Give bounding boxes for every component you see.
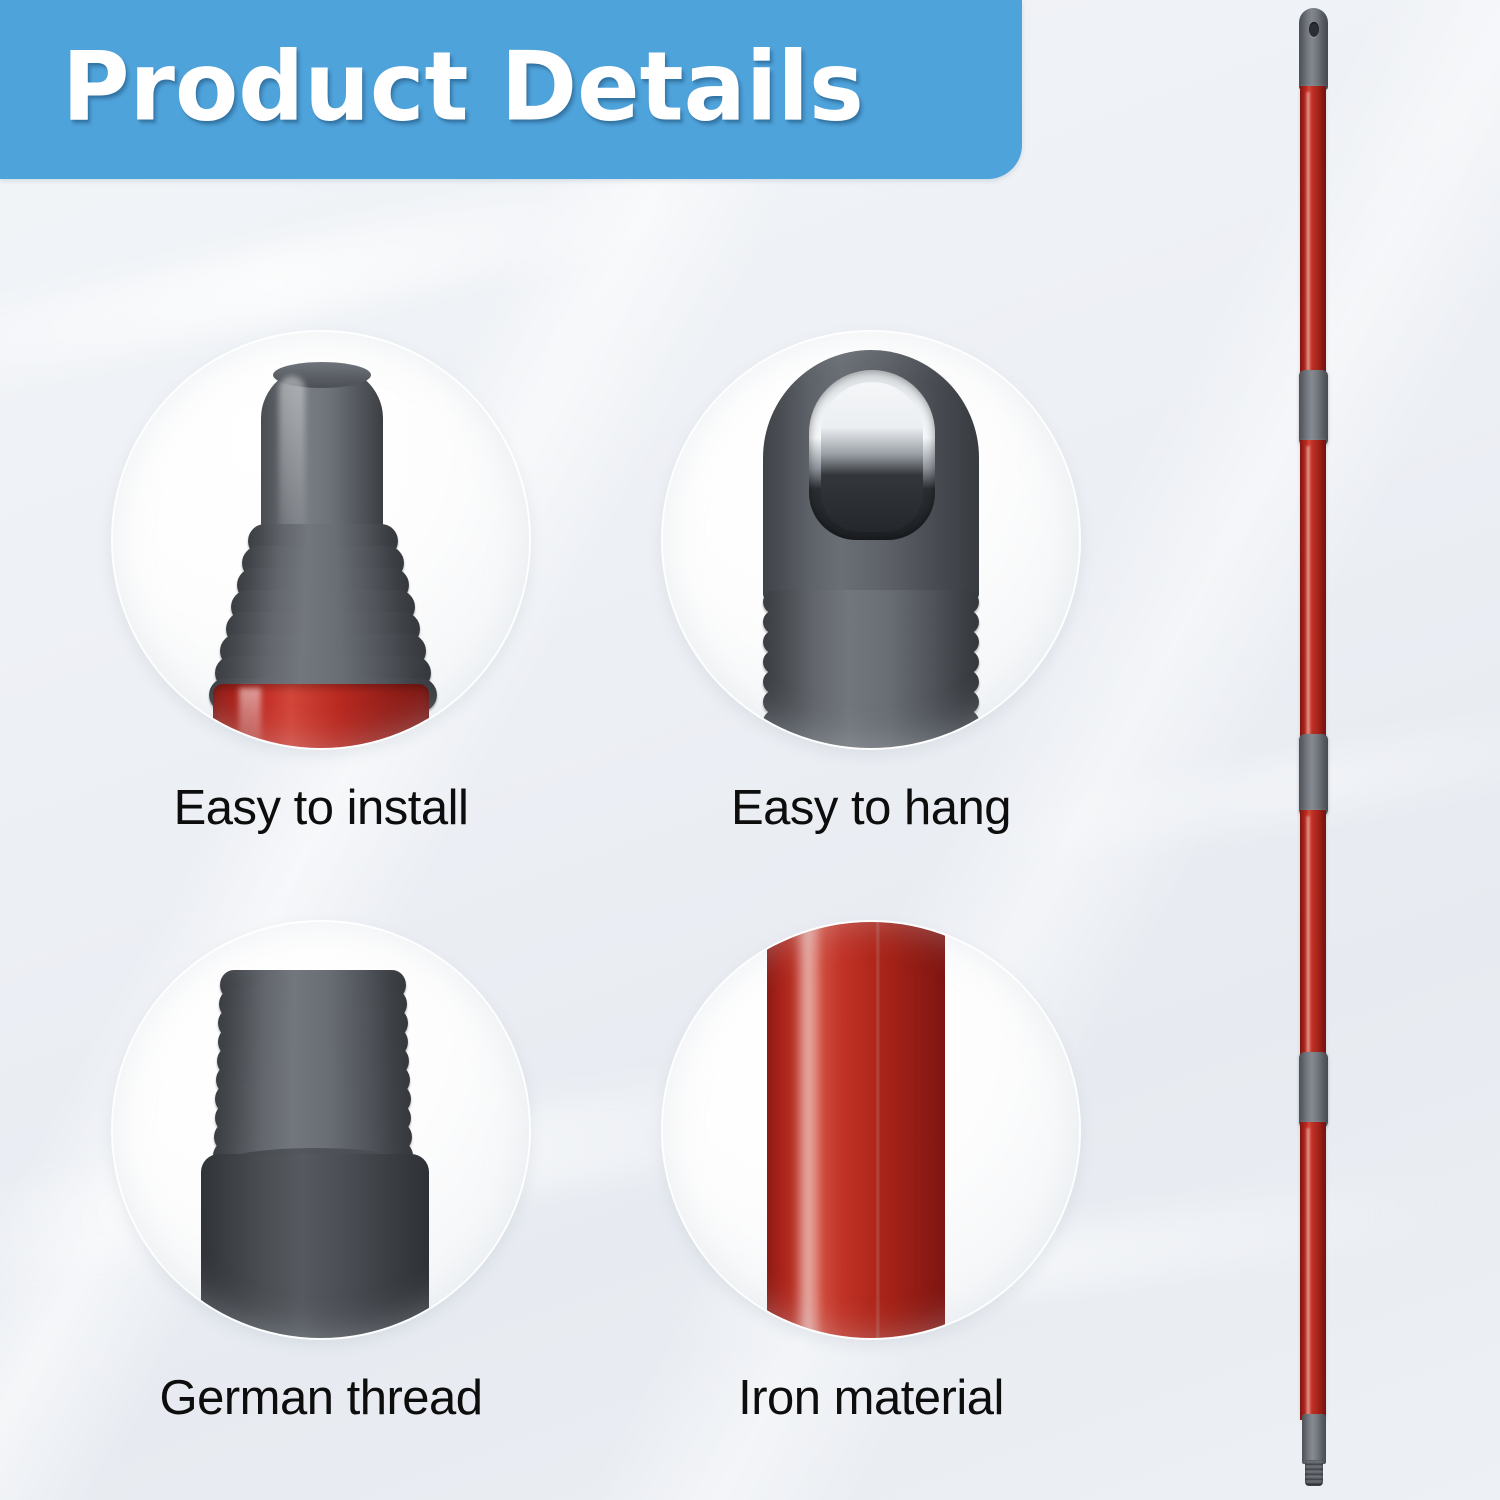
pole-highlight	[1306, 816, 1310, 1056]
feature-image-easy-to-hang	[663, 332, 1079, 748]
feature-caption-easy-to-install: Easy to install	[113, 784, 529, 833]
screw-thread-group	[213, 970, 413, 1162]
tube-seam	[877, 922, 880, 1338]
pole-highlight	[1306, 92, 1310, 376]
pole-tube-segment	[1300, 810, 1326, 1058]
feature-image-german-thread	[113, 922, 529, 1338]
header-banner: Product Details	[0, 0, 1022, 179]
product-pole	[1299, 0, 1329, 1500]
pole-tube-segment	[1300, 86, 1326, 378]
pole-locking-collar	[1299, 370, 1328, 446]
pole-highlight	[1306, 446, 1310, 738]
pole-hanging-cap	[1299, 8, 1328, 90]
feature-easy-to-hang: Easy to hang	[663, 332, 1079, 833]
hanging-loop-inner	[821, 382, 923, 532]
product-details-infographic: Product Details Easy to install Easy to …	[0, 0, 1500, 1500]
cap-highlight	[279, 376, 305, 548]
feature-easy-to-install: Easy to install	[113, 332, 529, 833]
feature-german-thread: German thread	[113, 922, 529, 1423]
feature-image-easy-to-install	[113, 332, 529, 748]
feature-caption-iron-material: Iron material	[663, 1374, 1079, 1423]
red-pole-highlight	[239, 688, 261, 748]
page-title: Product Details	[62, 40, 889, 135]
pole-locking-collar	[1299, 734, 1328, 816]
tube-highlight	[795, 922, 821, 1338]
feature-caption-easy-to-hang: Easy to hang	[663, 784, 1079, 833]
red-iron-tube	[767, 922, 945, 1338]
feature-iron-material: Iron material	[663, 922, 1079, 1423]
pole-hanging-hole	[1309, 22, 1319, 37]
pole-tube-segment	[1300, 440, 1326, 740]
thread-ring	[763, 730, 979, 748]
ribbed-grip-group	[763, 590, 979, 748]
feature-image-iron-material	[663, 922, 1079, 1338]
pole-highlight	[1306, 1128, 1310, 1416]
connector-body	[201, 1154, 429, 1338]
pole-tip-thread	[1305, 1460, 1323, 1486]
pole-threaded-tip	[1302, 1414, 1326, 1464]
pole-locking-collar	[1299, 1052, 1328, 1128]
feature-caption-german-thread: German thread	[113, 1374, 529, 1423]
page-title-text: Product Details	[62, 40, 864, 135]
pole-tube-segment	[1300, 1122, 1326, 1420]
